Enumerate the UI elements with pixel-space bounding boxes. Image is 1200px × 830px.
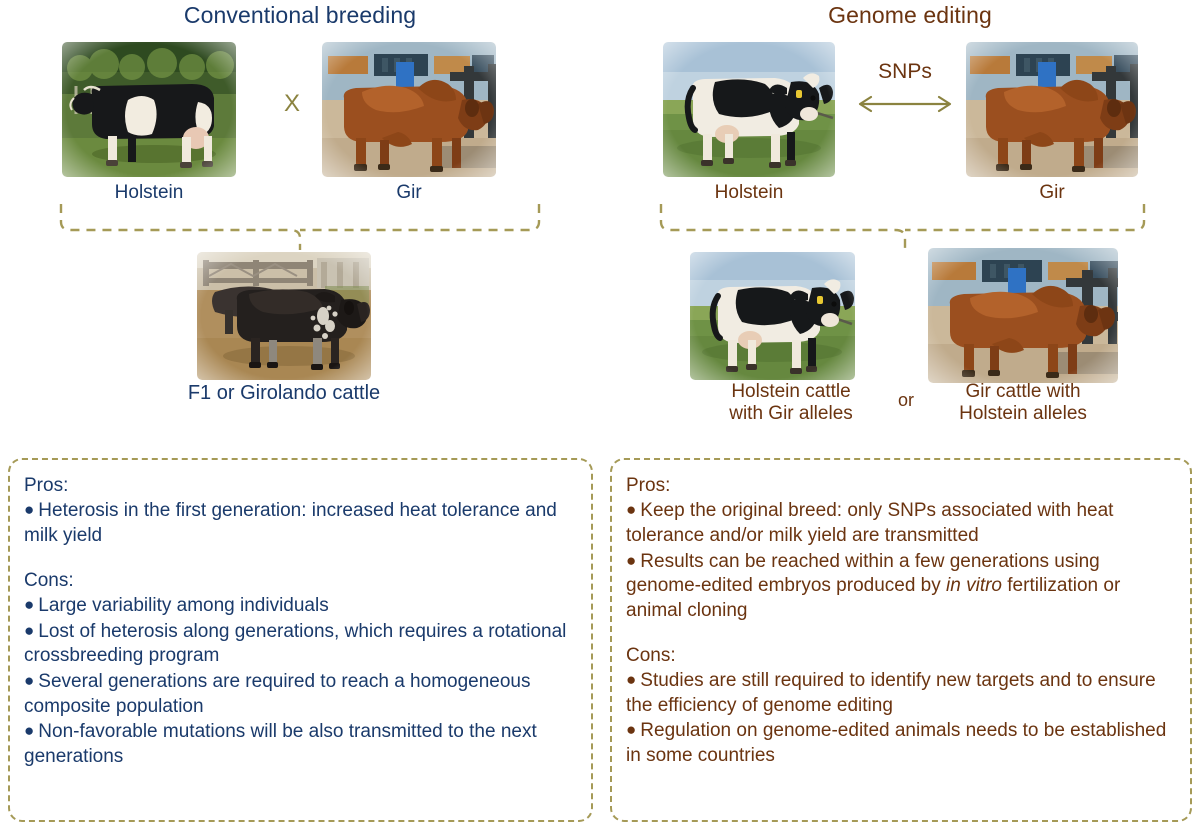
list-item: ●Keep the original breed: only SNPs asso…: [626, 499, 1174, 548]
gir-edited-photo: [928, 248, 1118, 383]
bullet-icon: ●: [24, 500, 38, 519]
bullet-icon: ●: [24, 721, 38, 740]
list-item-text: Large variability among individuals: [38, 595, 328, 616]
panel-title-genome-editing: Genome editing: [700, 2, 1120, 29]
gir-cow-photo-left: [322, 42, 496, 177]
list-item: ●Heterosis in the first generation: incr…: [24, 499, 575, 548]
list-item-text: Several generations are required to reac…: [24, 671, 531, 717]
cons-heading-left: Cons:: [24, 569, 575, 593]
list-item-text: Studies are still required to identify n…: [626, 670, 1156, 716]
snps-label: SNPs: [845, 60, 965, 84]
pros-heading-left: Pros:: [24, 474, 575, 498]
list-item: ●Studies are still required to identify …: [626, 669, 1174, 718]
info-box-genome-editing: Pros: ●Keep the original breed: only SNP…: [610, 458, 1192, 822]
bullet-icon: ●: [626, 500, 640, 519]
cons-list-left: ●Large variability among individuals ●Lo…: [24, 594, 575, 770]
caption-gir-with-holstein-alleles: Gir cattle with Holstein alleles: [925, 381, 1121, 426]
caption-f1-girolando: F1 or Girolando cattle: [128, 382, 440, 405]
list-item-text-italic: in vitro: [946, 575, 1002, 596]
list-item: ●Large variability among individuals: [24, 594, 575, 619]
bullet-icon: ●: [24, 595, 38, 614]
caption-line-1: Holstein cattle: [731, 381, 850, 402]
holstein-edited-photo: [690, 252, 855, 380]
pros-list-left: ●Heterosis in the first generation: incr…: [24, 499, 575, 548]
figure-root: Conventional breeding Genome editing: [0, 0, 1200, 830]
cross-symbol: X: [272, 90, 312, 118]
caption-line-1: Gir cattle with: [965, 381, 1080, 402]
list-item-text: Lost of heterosis along generations, whi…: [24, 621, 566, 667]
panel-title-conventional-breeding: Conventional breeding: [80, 2, 520, 29]
cons-heading-right: Cons:: [626, 644, 1174, 668]
double-headed-arrow-icon: [845, 92, 965, 116]
list-item: ●Non-favorable mutations will be also tr…: [24, 720, 575, 769]
bracket-connector-left: [55, 200, 545, 250]
caption-holstein-with-gir-alleles: Holstein cattle with Gir alleles: [695, 381, 887, 426]
info-box-conventional-breeding: Pros: ●Heterosis in the first generation…: [8, 458, 593, 822]
bullet-icon: ●: [24, 671, 38, 690]
list-item: ●Several generations are required to rea…: [24, 670, 575, 719]
section-spacer: [626, 625, 1174, 644]
bullet-icon: ●: [626, 551, 640, 570]
section-spacer: [24, 550, 575, 569]
bullet-icon: ●: [626, 720, 640, 739]
caption-line-2: with Gir alleles: [729, 403, 853, 424]
caption-line-2: Holstein alleles: [959, 403, 1087, 424]
or-label: or: [886, 390, 926, 411]
bracket-connector-right: [655, 200, 1150, 250]
cons-list-right: ●Studies are still required to identify …: [626, 669, 1174, 769]
list-item: ●Regulation on genome-edited animals nee…: [626, 719, 1174, 768]
girolando-cattle-photo: [197, 252, 371, 380]
holstein-cow-photo-right: [663, 42, 835, 177]
pros-list-right: ●Keep the original breed: only SNPs asso…: [626, 499, 1174, 623]
holstein-cow-photo-left: [62, 42, 236, 177]
list-item-text: Heterosis in the first generation: incre…: [24, 500, 557, 546]
pros-heading-right: Pros:: [626, 474, 1174, 498]
list-item-text: Keep the original breed: only SNPs assoc…: [626, 500, 1113, 546]
list-item-text: Non-favorable mutations will be also tra…: [24, 721, 537, 767]
list-item: ●Results can be reached within a few gen…: [626, 550, 1174, 624]
gir-cow-photo-right: [966, 42, 1138, 177]
list-item-text: Regulation on genome-edited animals need…: [626, 720, 1166, 766]
bullet-icon: ●: [626, 670, 640, 689]
bullet-icon: ●: [24, 621, 38, 640]
list-item: ●Lost of heterosis along generations, wh…: [24, 620, 575, 669]
